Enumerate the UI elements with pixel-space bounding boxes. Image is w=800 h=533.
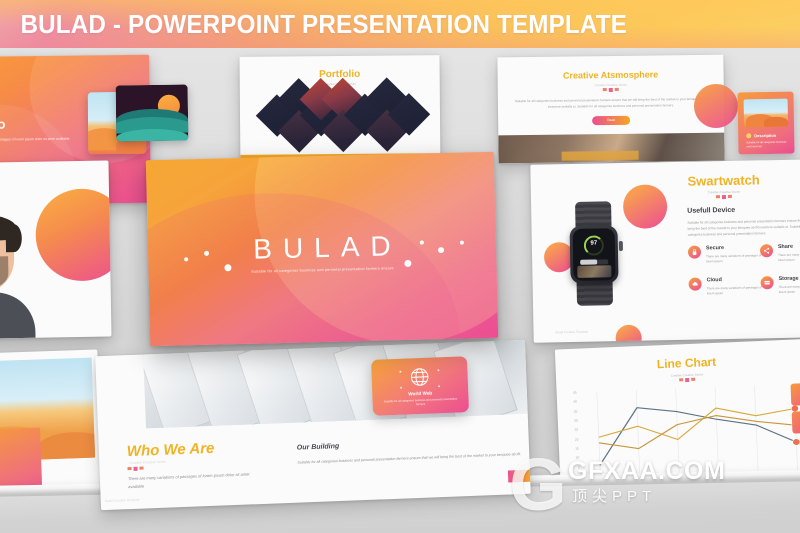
feature-share[interactable]: Share There are many variations of passa… [760, 243, 800, 244]
photo-laptop [562, 151, 639, 161]
chart-y-tick: 45 [565, 390, 577, 395]
chart-side-card-1[interactable] [790, 382, 800, 405]
watermark-logo-icon: G [500, 449, 576, 525]
screenshot-stage: Portfolio There are many variations of p… [0, 0, 800, 533]
slide-title: Creative Atsmosphere [498, 69, 724, 82]
lock-icon [688, 246, 701, 259]
person-photo [0, 218, 48, 340]
page-title: BULAD - POWERPOINT PRESENTATION TEMPLATE [0, 0, 744, 48]
chart-y-tick: 30 [566, 418, 578, 423]
feature-title: Cloud [707, 277, 722, 283]
card-description[interactable]: Description Suitable for all categories … [737, 92, 794, 155]
header-banner: BULAD - POWERPOINT PRESENTATION TEMPLATE [0, 0, 800, 48]
feature-title: Storage [778, 276, 798, 282]
cloud-icon [689, 277, 702, 290]
slide-creative-atmosphere[interactable]: Creative Atsmosphere Creative Creative S… [497, 55, 724, 164]
globe-icon [408, 366, 431, 389]
battery-percent: 97 [584, 240, 604, 246]
feature-storage[interactable]: Storage There are many variations of pas… [761, 275, 800, 276]
card-world-web[interactable]: World Web Suitable for all categories bu… [371, 356, 469, 416]
divider-dots [127, 467, 143, 472]
card-thumbnail [744, 99, 788, 128]
slide-title: Swartwatch [659, 172, 789, 189]
decor-circle-right [694, 84, 738, 128]
read-button[interactable]: Read [592, 116, 630, 125]
chart-y-tick: 25 [566, 428, 578, 433]
slide-footer: Bulad Creative Template [105, 498, 140, 503]
slide-footer: Bulad Creative Template [556, 330, 589, 335]
card-title: World Web [372, 389, 468, 398]
card-body: Suitable for all categories business and… [383, 398, 459, 409]
storage-icon [761, 276, 774, 289]
feature-body: There are many variations of passages of… [707, 285, 765, 296]
slide-photo [498, 133, 724, 164]
thumbnail-dune-2 [764, 117, 788, 127]
building-heading: Our Building [297, 443, 340, 452]
slide-body: There are many variations of passages of… [128, 470, 261, 491]
watermark: G GFXAA.COM 顶尖PPT [496, 453, 796, 527]
smartwatch-image: 97 [561, 201, 627, 306]
feature-body: There are many variations of passages of… [706, 253, 764, 264]
chart-side-card-2[interactable] [792, 410, 800, 433]
thumbnail-night-landscape[interactable] [116, 85, 189, 142]
feature-secure[interactable]: Secure There are many variations of pass… [688, 244, 754, 245]
watermark-subtext: 顶尖PPT [572, 485, 656, 506]
watermark-text: GFXAA.COM [568, 457, 725, 486]
slide-title-bulad[interactable]: BULAD Suitable for all categories busine… [146, 152, 498, 346]
building-body: Suitable for all categories business and… [297, 450, 523, 467]
chart-y-tick: 15 [567, 446, 579, 451]
building-photo [143, 340, 528, 429]
chart-y-tick: 20 [566, 437, 578, 442]
slide-swartwatch[interactable]: 97 Swartwatch Creative Creative Series U… [530, 159, 800, 342]
slide-title: Who We Are [127, 440, 215, 460]
share-icon [760, 244, 773, 257]
chart-y-tick: 40 [565, 400, 577, 405]
feature-cloud[interactable]: Cloud There are many variations of passa… [689, 276, 755, 277]
feature-body: There are many variations of passages of… [778, 252, 800, 263]
slide-desert[interactable] [0, 349, 103, 504]
feature-body: There are many variations of passages of… [779, 284, 800, 295]
watch-crown [619, 241, 623, 251]
slide-body: Suitable for all categories business and… [514, 97, 708, 111]
slide-team-person[interactable]: Our Team [0, 160, 112, 339]
decor-blob [615, 325, 641, 343]
section-body: Suitable for all categories business and… [687, 217, 800, 237]
portfolio-diamond-grid [254, 93, 427, 154]
bullet-dot-icon [746, 133, 751, 138]
feature-title: Secure [706, 245, 724, 251]
chart-y-tick: 35 [565, 409, 577, 414]
card-body: Suitable for all categories business and… [746, 141, 788, 150]
section-heading: Usefull Device [687, 207, 735, 215]
slide-title: Portfolio [0, 116, 5, 132]
card-title: Description [754, 133, 776, 138]
decor-circle [35, 188, 112, 282]
feature-title: Share [778, 244, 793, 250]
slide-subtitle: Creative Creative Series [129, 460, 166, 465]
